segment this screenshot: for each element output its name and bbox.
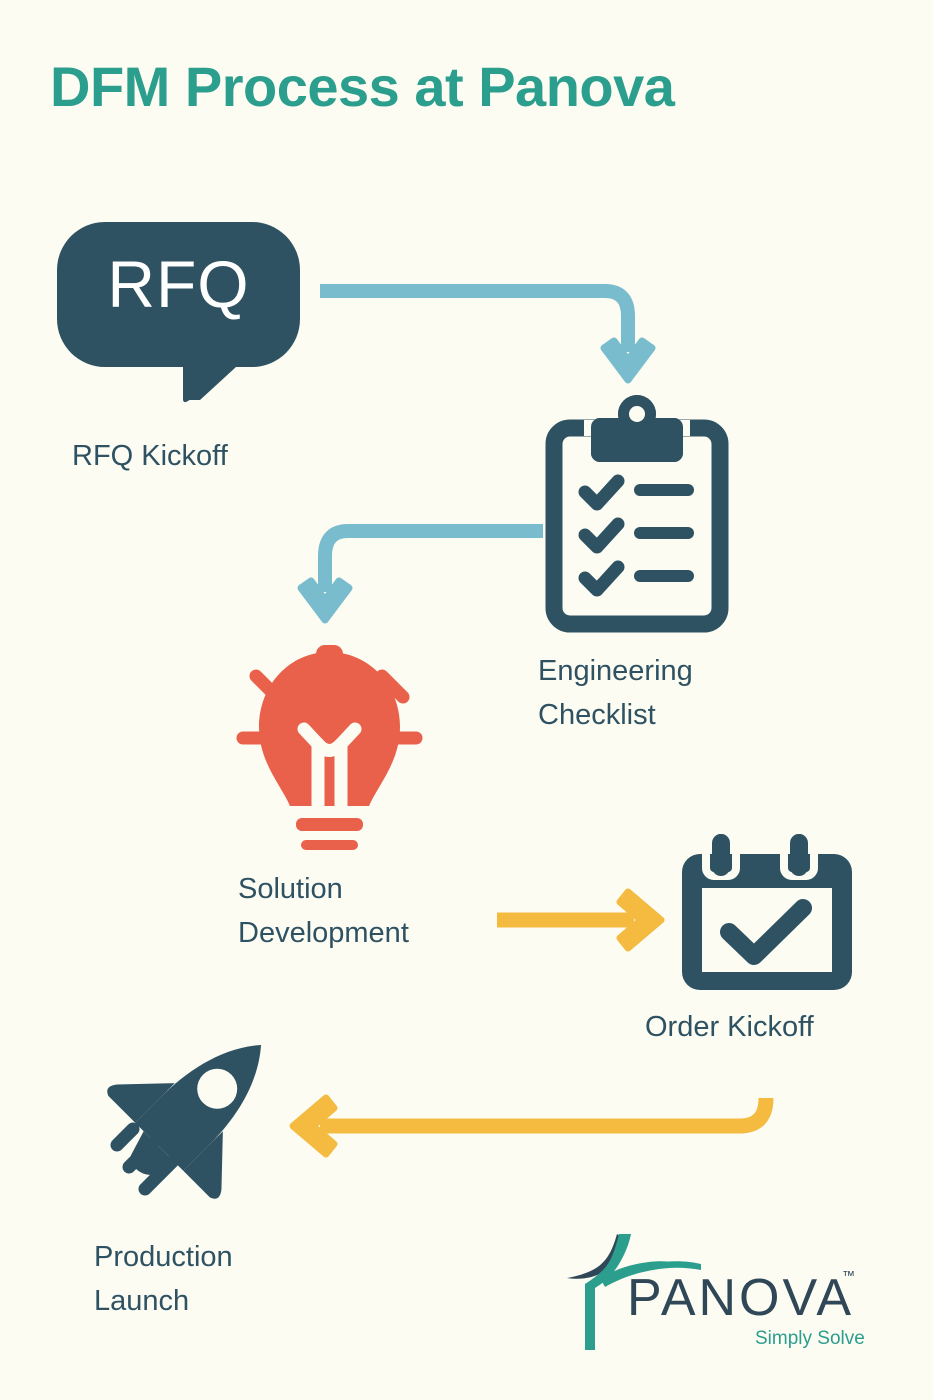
step-label-production-launch: Production Launch	[94, 1236, 394, 1323]
logo-wordmark: PANOVA	[627, 1268, 854, 1328]
step-label-rfq-kickoff: RFQ Kickoff	[72, 435, 372, 479]
step-label-order-kickoff: Order Kickoff	[645, 1006, 925, 1050]
infographic-poster: DFM Process at Panova RFQ RFQ Kickoff E	[0, 0, 933, 1400]
logo-trademark: ™	[842, 1268, 855, 1283]
step-label-solution-development: Solution Development	[238, 868, 538, 955]
panova-logo: PANOVA ™ Simply Solve	[565, 1232, 885, 1362]
logo-tagline: Simply Solve	[755, 1328, 865, 1350]
page-title: DFM Process at Panova	[50, 56, 900, 118]
step-label-engineering-checklist: Engineering Checklist	[538, 650, 818, 737]
rfq-badge-text: RFQ	[57, 246, 300, 322]
